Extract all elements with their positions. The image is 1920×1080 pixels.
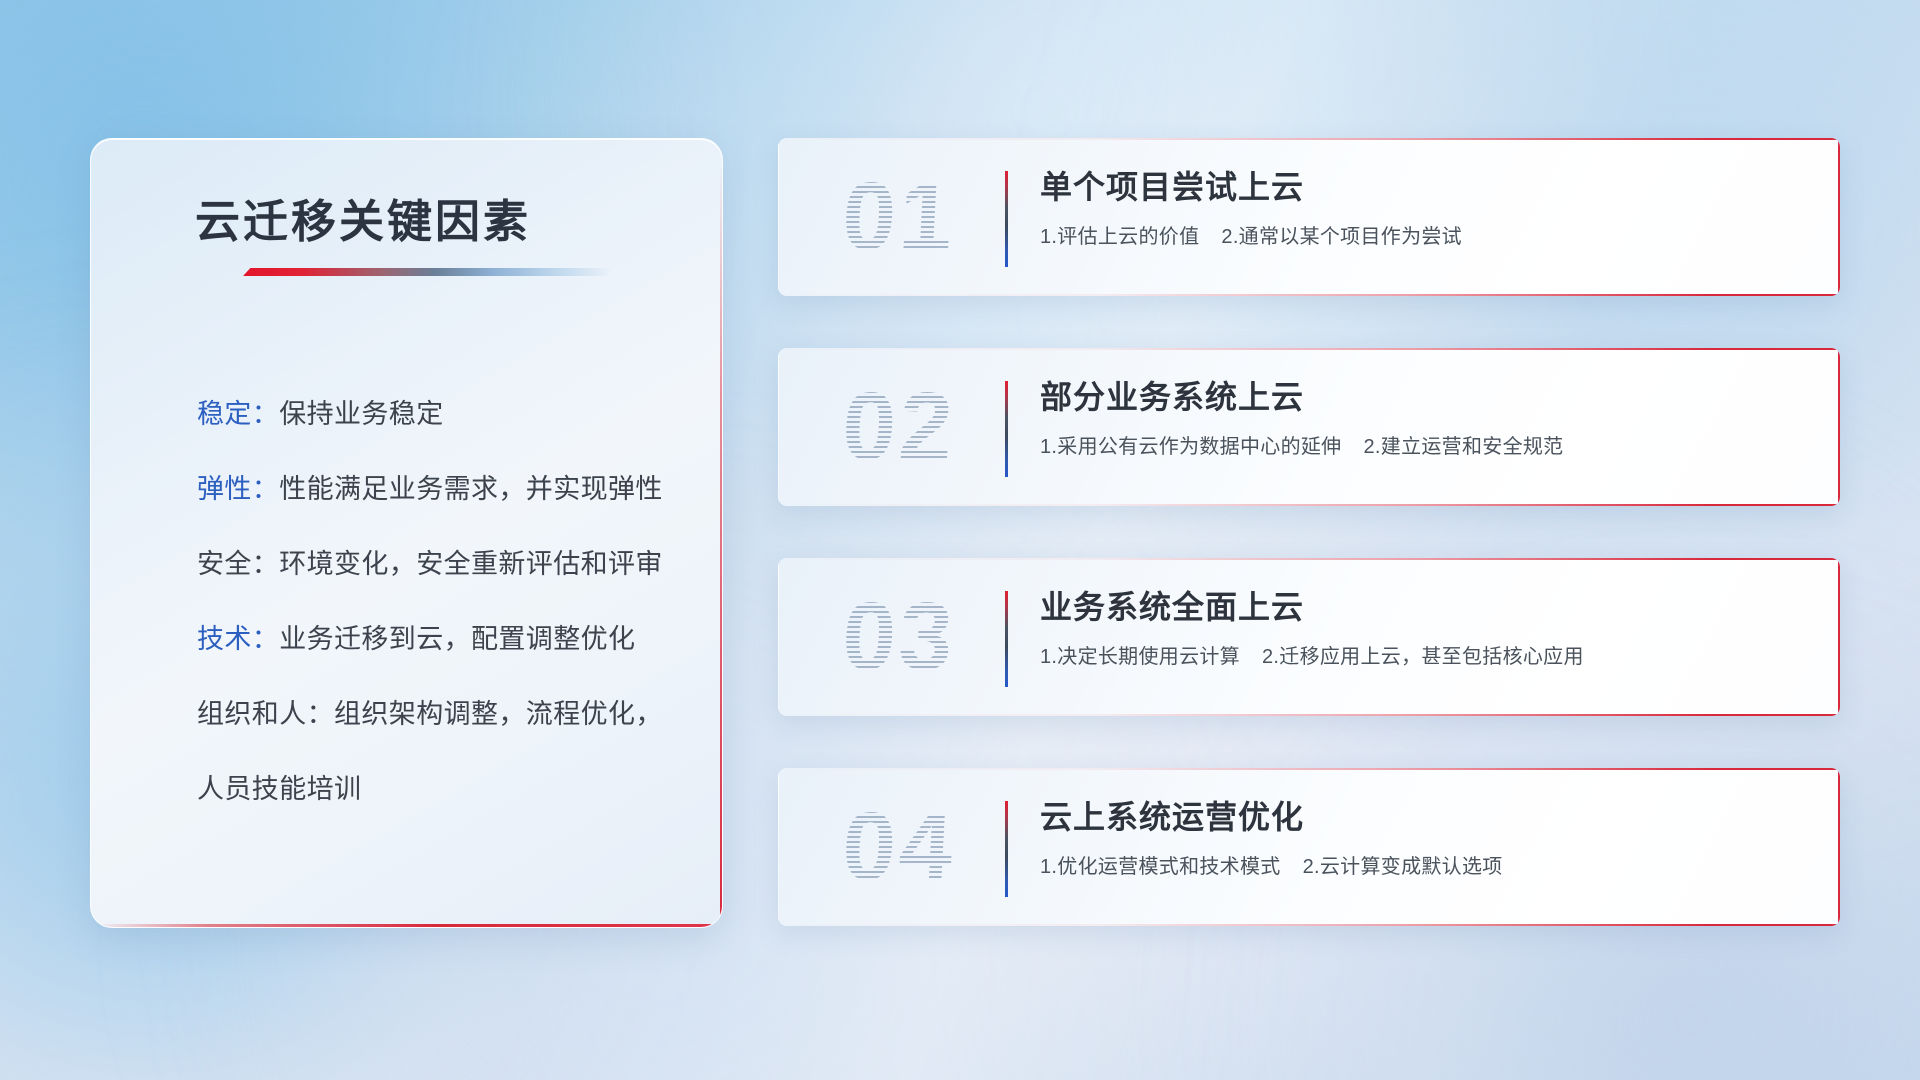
card-left-highlight	[778, 138, 779, 296]
card-text-block: 云上系统运营优化 1.优化运营模式和技术模式2.云计算变成默认选项	[1040, 794, 1800, 882]
stage-points: 1.决定长期使用云计算2.迁移应用上云，甚至包括核心应用	[1040, 642, 1800, 672]
card-top-accent	[778, 768, 1840, 770]
stage-point-1: 1.评估上云的价值	[1040, 226, 1199, 248]
card-right-accent	[1838, 768, 1840, 926]
stage-points: 1.采用公有云作为数据中心的延伸2.建立运营和安全规范	[1040, 432, 1800, 462]
stage-number: 04	[811, 786, 987, 908]
card-divider	[1005, 171, 1008, 267]
stage-card-list: 01 单个项目尝试上云 1.评估上云的价值2.通常以某个项目作为尝试 02 部分…	[778, 138, 1840, 926]
factor-text: 性能满足业务需求，并实现弹性	[279, 474, 663, 504]
stage-points: 1.优化运营模式和技术模式2.云计算变成默认选项	[1040, 852, 1800, 882]
card-left-highlight	[778, 558, 779, 716]
stage-card-04[interactable]: 04 云上系统运营优化 1.优化运营模式和技术模式2.云计算变成默认选项	[778, 768, 1840, 926]
card-text-block: 部分业务系统上云 1.采用公有云作为数据中心的延伸2.建立运营和安全规范	[1040, 374, 1800, 462]
factor-label: 弹性：	[197, 474, 279, 504]
card-text-block: 单个项目尝试上云 1.评估上云的价值2.通常以某个项目作为尝试	[1040, 164, 1800, 252]
factor-text: 业务迁移到云，配置调整优化	[279, 624, 635, 654]
stage-number: 03	[811, 576, 987, 698]
card-bottom-accent	[778, 504, 1840, 506]
factor-row-continuation: 人员技能培训	[197, 752, 682, 827]
card-divider	[1005, 591, 1008, 687]
factor-text: 人员技能培训	[197, 774, 361, 804]
factor-label: 安全：	[197, 549, 279, 579]
stage-number: 01	[811, 156, 987, 278]
stage-number: 02	[811, 366, 987, 488]
card-right-accent	[1838, 558, 1840, 716]
stage-card-02[interactable]: 02 部分业务系统上云 1.采用公有云作为数据中心的延伸2.建立运营和安全规范	[778, 348, 1840, 506]
card-left-highlight	[778, 348, 779, 506]
stage-title: 云上系统运营优化	[1040, 794, 1800, 840]
factor-row: 稳定：保持业务稳定	[197, 377, 682, 452]
stage-point-2: 2.云计算变成默认选项	[1303, 856, 1503, 878]
stage-point-1: 1.优化运营模式和技术模式	[1040, 856, 1281, 878]
key-factors-panel: 云迁移关键因素 稳定：保持业务稳定 弹性：性能满足业务需求，并实现弹性 安全：环…	[90, 138, 723, 928]
stage-points: 1.评估上云的价值2.通常以某个项目作为尝试	[1040, 222, 1800, 252]
card-text-block: 业务系统全面上云 1.决定长期使用云计算2.迁移应用上云，甚至包括核心应用	[1040, 584, 1800, 672]
card-top-accent	[778, 558, 1840, 560]
factor-label: 组织和人：	[197, 699, 334, 729]
factor-row: 安全：环境变化，安全重新评估和评审	[197, 527, 682, 602]
card-top-accent	[778, 348, 1840, 350]
stage-point-1: 1.采用公有云作为数据中心的延伸	[1040, 436, 1341, 458]
stage-title: 单个项目尝试上云	[1040, 164, 1800, 210]
stage-point-2: 2.建立运营和安全规范	[1363, 436, 1563, 458]
stage-title: 部分业务系统上云	[1040, 374, 1800, 420]
card-divider	[1005, 381, 1008, 477]
factor-row: 技术：业务迁移到云，配置调整优化	[197, 602, 682, 677]
factor-text: 组织架构调整，流程优化，	[334, 699, 663, 729]
page-title: 云迁移关键因素	[195, 185, 531, 250]
card-top-accent	[778, 138, 1840, 140]
stage-point-1: 1.决定长期使用云计算	[1040, 646, 1240, 668]
stage-card-03[interactable]: 03 业务系统全面上云 1.决定长期使用云计算2.迁移应用上云，甚至包括核心应用	[778, 558, 1840, 716]
card-bottom-accent	[778, 714, 1840, 716]
factor-list: 稳定：保持业务稳定 弹性：性能满足业务需求，并实现弹性 安全：环境变化，安全重新…	[197, 377, 682, 827]
stage-point-2: 2.通常以某个项目作为尝试	[1221, 226, 1462, 248]
title-underline-accent	[243, 268, 613, 276]
card-divider	[1005, 801, 1008, 897]
card-left-highlight	[778, 768, 779, 926]
factor-label: 技术：	[197, 624, 279, 654]
card-bottom-accent	[778, 294, 1840, 296]
factor-text: 环境变化，安全重新评估和评审	[279, 549, 663, 579]
stage-point-2: 2.迁移应用上云，甚至包括核心应用	[1262, 646, 1584, 668]
factor-label: 稳定：	[197, 399, 279, 429]
card-bottom-accent	[778, 924, 1840, 926]
factor-text: 保持业务稳定	[279, 399, 443, 429]
card-right-accent	[1838, 138, 1840, 296]
stage-card-01[interactable]: 01 单个项目尝试上云 1.评估上云的价值2.通常以某个项目作为尝试	[778, 138, 1840, 296]
card-right-accent	[1838, 348, 1840, 506]
factor-row: 弹性：性能满足业务需求，并实现弹性	[197, 452, 682, 527]
stage-title: 业务系统全面上云	[1040, 584, 1800, 630]
factor-row: 组织和人：组织架构调整，流程优化，	[197, 677, 682, 752]
